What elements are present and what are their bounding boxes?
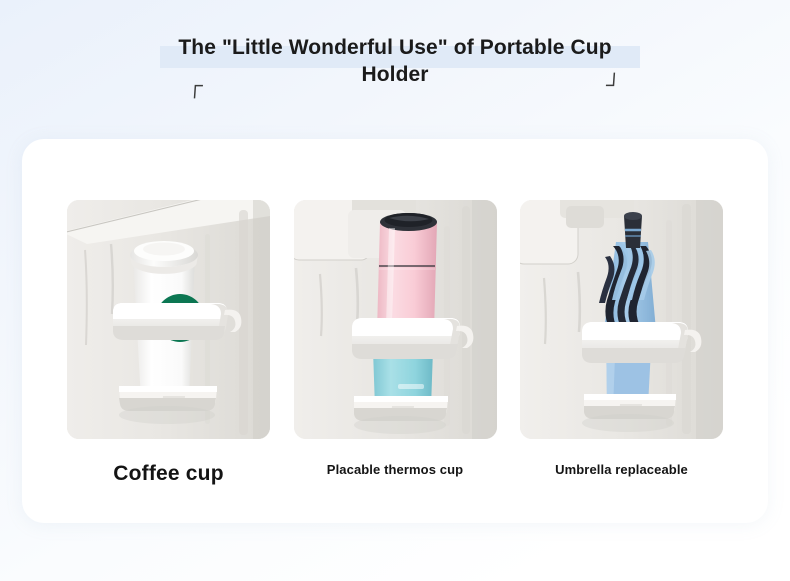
photo-thermos-cup-in-holder — [294, 200, 497, 439]
photo-umbrella-in-holder — [520, 200, 723, 439]
product-caption-thermos-cup: Placable thermos cup — [327, 462, 463, 477]
page-title-line-1: The "Little Wonderful Use" of Portable — [178, 36, 564, 59]
product-tile-list: Coffee cup — [22, 139, 768, 523]
product-caption-coffee-cup: Coffee cup — [113, 462, 224, 486]
content-card: Coffee cup — [22, 139, 768, 523]
product-tile-thermos-cup[interactable]: Placable thermos cup — [294, 200, 497, 523]
page-title: ┌ ┌ The "Little Wonderful Use" of Portab… — [0, 34, 790, 88]
product-tile-coffee-cup[interactable]: Coffee cup — [67, 200, 270, 523]
photo-coffee-cup-in-holder — [67, 200, 270, 439]
bracket-close-icon: ┌ — [605, 75, 621, 96]
product-caption-umbrella: Umbrella replaceable — [555, 462, 688, 477]
product-tile-umbrella[interactable]: Umbrella replaceable — [520, 200, 723, 523]
page-title-text: The "Little Wonderful Use" of Portable C… — [165, 34, 625, 88]
bracket-open-icon: ┌ — [187, 75, 203, 96]
